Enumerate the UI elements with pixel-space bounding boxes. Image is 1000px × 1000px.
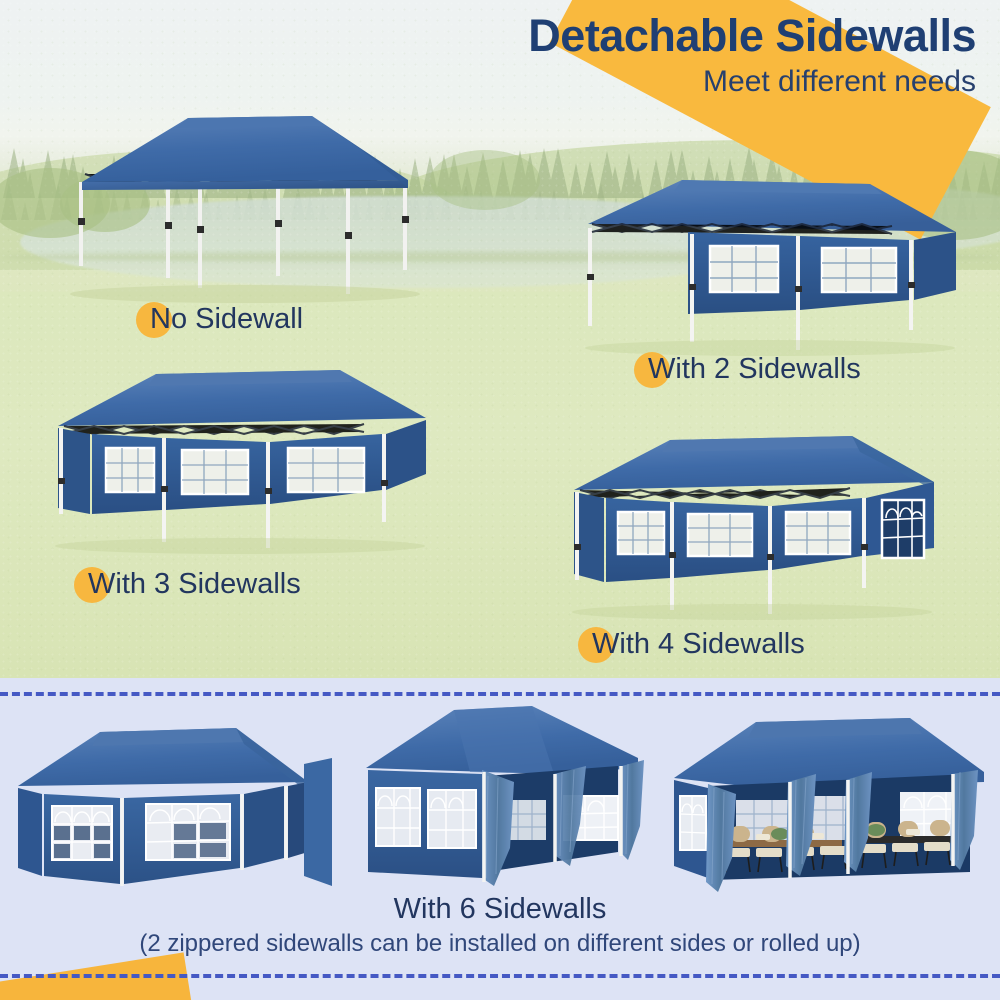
label-two-sidewalls: With 2 Sidewalls bbox=[648, 355, 861, 384]
canopy-roof-peak bbox=[176, 116, 326, 128]
label-four-sidewalls: With 4 Sidewalls bbox=[592, 630, 805, 659]
label-no-sidewall: No Sidewall bbox=[150, 305, 303, 334]
zippered-curtain-right bbox=[620, 760, 644, 860]
window-pane bbox=[710, 246, 778, 292]
leg-height-adjusters bbox=[78, 216, 409, 239]
sidewall-long-left bbox=[368, 770, 482, 878]
canopy-legs bbox=[81, 180, 405, 294]
sidewall-cathedral-1 bbox=[44, 794, 120, 884]
canopy-six-sidewalls-zippered-open bbox=[318, 696, 668, 896]
page-subtitle: Meet different needs bbox=[528, 65, 976, 99]
sidewall-panel-2 bbox=[800, 236, 910, 310]
label-six-sidewalls: With 6 Sidewalls bbox=[394, 895, 607, 924]
canopy-six-sidewalls-rolled-up bbox=[660, 700, 1000, 900]
sidewall-panel-3 bbox=[270, 434, 382, 504]
sidewall-end-left bbox=[18, 788, 42, 876]
sidewall-panel-4-cathedral bbox=[866, 482, 934, 558]
sidewall-panel-1 bbox=[92, 434, 162, 514]
window-pane bbox=[822, 248, 896, 292]
canopy-six-sidewalls-enclosed bbox=[8, 708, 328, 893]
canopy-frame-truss bbox=[580, 488, 850, 498]
sidewall-cathedral-2 bbox=[124, 794, 240, 884]
sidewall-panel-2 bbox=[166, 438, 266, 510]
sidewall-end-right bbox=[244, 786, 284, 868]
canopy-frame-truss bbox=[64, 424, 364, 434]
canopy-three-sidewalls bbox=[30, 362, 450, 552]
canopy-two-sidewalls bbox=[570, 178, 1000, 358]
sidewall-panel-2 bbox=[674, 502, 768, 578]
sidewall-panel-1 bbox=[688, 232, 796, 314]
bottom-caption-note: (2 zippered sidewalls can be installed o… bbox=[0, 930, 1000, 958]
dashed-divider-bottom bbox=[0, 974, 1000, 978]
window-pane bbox=[182, 450, 248, 494]
adjacent-tent-sliver bbox=[304, 758, 332, 886]
page-title: Detachable Sidewalls bbox=[528, 12, 976, 59]
window-pane bbox=[618, 512, 664, 554]
window-pane bbox=[288, 448, 364, 492]
leg-adjuster bbox=[587, 274, 594, 280]
infographic-page: Detachable Sidewalls Meet different need… bbox=[0, 0, 1000, 1000]
bottom-caption-block: With 6 Sidewalls (2 zippered sidewalls c… bbox=[0, 895, 1000, 958]
sidewall-end-right bbox=[914, 232, 956, 300]
sidewall-end-right bbox=[386, 420, 426, 490]
sidewall-panel-1 bbox=[606, 498, 670, 582]
canopy-no-sidewall bbox=[40, 98, 440, 298]
canopy-shadow bbox=[55, 538, 425, 554]
bottom-panel: With 6 Sidewalls (2 zippered sidewalls c… bbox=[0, 678, 1000, 1000]
sidewall-panel-3 bbox=[772, 498, 862, 570]
header-block: Detachable Sidewalls Meet different need… bbox=[528, 12, 976, 99]
canopy-shadow bbox=[70, 285, 420, 303]
window-pane bbox=[786, 512, 850, 554]
end-wall-window bbox=[680, 796, 706, 850]
label-three-sidewalls: With 3 Sidewalls bbox=[88, 570, 301, 599]
bush bbox=[430, 150, 540, 210]
canopy-four-sidewalls bbox=[552, 432, 992, 622]
window-pane bbox=[688, 514, 752, 556]
canopy-shadow bbox=[572, 604, 932, 620]
window-pane bbox=[106, 448, 154, 492]
